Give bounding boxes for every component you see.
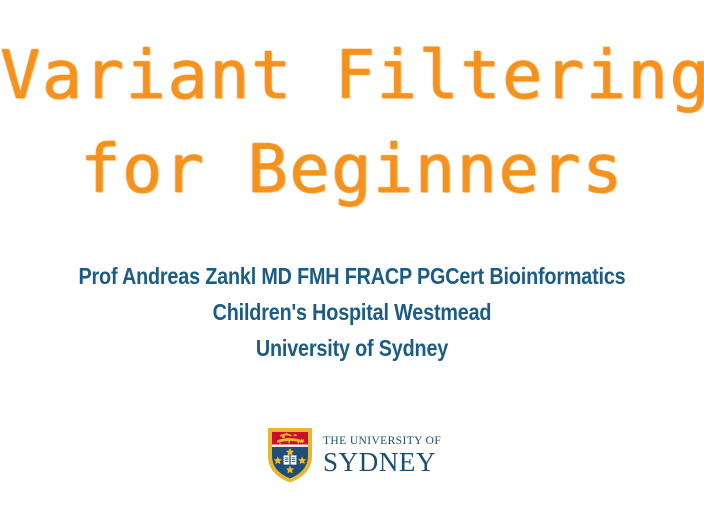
slide-subtitle: Prof Andreas Zankl MD FMH FRACP PGCert B…	[0, 258, 704, 366]
slide-title: Variant Filtering for Beginners	[0, 28, 704, 216]
logo-wordmark: THE UNIVERSITY OF SYDNEY	[323, 433, 441, 477]
sydney-crest-icon	[266, 426, 314, 484]
affiliation-university: University of Sydney	[49, 330, 654, 366]
logo-wordmark-line-main: SYDNEY	[323, 448, 441, 477]
title-line-2: for Beginners	[0, 122, 704, 216]
university-of-sydney-logo: THE UNIVERSITY OF SYDNEY	[266, 424, 442, 486]
presenter-name-credentials: Prof Andreas Zankl MD FMH FRACP PGCert B…	[49, 258, 654, 294]
title-line-1: Variant Filtering	[0, 28, 704, 122]
title-slide: Variant Filtering for Beginners Prof And…	[0, 0, 704, 528]
affiliation-hospital: Children's Hospital Westmead	[49, 294, 654, 330]
